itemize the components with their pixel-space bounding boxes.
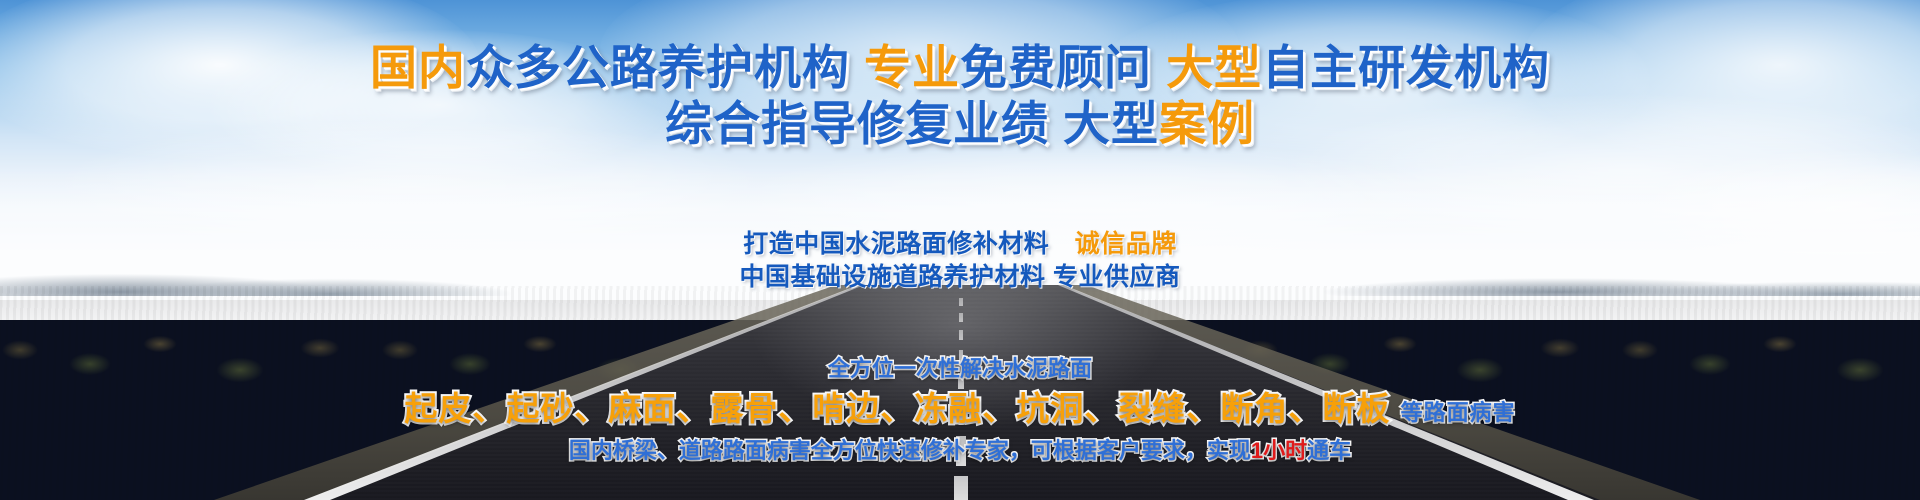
text-run-red: 1小时 xyxy=(1251,438,1307,463)
text-run-orange: 诚信品牌 xyxy=(1075,230,1177,258)
text-run-blue: 全方位一次性解决水泥路面 xyxy=(828,356,1092,381)
text-run-blue: 自主研发机构 xyxy=(1262,41,1550,94)
headline-line-1: 国内众多公路养护机构 专业免费顾问 大型自主研发机构 xyxy=(0,44,1920,91)
text-run-blue: 等路面病害 xyxy=(1401,400,1516,425)
text-run-blue xyxy=(850,41,864,94)
text-run-orange: 国内 xyxy=(370,41,466,94)
text-run-blue xyxy=(1049,230,1075,258)
text-run-blue: 大型 xyxy=(1063,97,1159,150)
subtitle-line-2: 中国基础设施道路养护材料 专业供应商 xyxy=(0,265,1920,290)
text-run-blue: 免费顾问 xyxy=(960,41,1152,94)
text-run-orange: 大型 xyxy=(1166,41,1262,94)
text-run-orange: 起皮、起砂、麻面、露骨、啃边、冻融、坑洞、裂缝、断角、断板 xyxy=(404,390,1390,427)
lower-line-2-defect-list: 起皮、起砂、麻面、露骨、啃边、冻融、坑洞、裂缝、断角、断板 等路面病害 xyxy=(0,392,1920,425)
lower-line-1: 全方位一次性解决水泥路面 xyxy=(0,358,1920,380)
banner-copy: 国内众多公路养护机构 专业免费顾问 大型自主研发机构 综合指导修复业绩 大型案例… xyxy=(0,0,1920,500)
lower-line-3-tagline: 国内桥梁、道路路面病害全方位快速修补专家，可根据客户要求，实现1小时通车 xyxy=(0,440,1920,462)
text-run-blue: 众多公路养护机构 xyxy=(466,41,850,94)
text-run-blue xyxy=(1152,41,1166,94)
text-run-blue: 通车 xyxy=(1307,438,1351,463)
promo-banner: 国内众多公路养护机构 专业免费顾问 大型自主研发机构 综合指导修复业绩 大型案例… xyxy=(0,0,1920,500)
text-run-blue xyxy=(1049,97,1063,150)
text-run-orange: 案例 xyxy=(1159,97,1255,150)
text-run-blue xyxy=(1390,390,1400,427)
text-run-blue: 国内桥梁、道路路面病害全方位快速修补专家，可根据客户要求，实现 xyxy=(569,438,1251,463)
text-run-blue: 打造中国水泥路面修补材料 xyxy=(743,230,1049,258)
text-run-blue: 综合指导修复业绩 xyxy=(665,97,1049,150)
subtitle-line-1: 打造中国水泥路面修补材料 诚信品牌 xyxy=(0,232,1920,257)
text-run-blue: 中国基础设施道路养护材料 专业供应商 xyxy=(740,263,1181,291)
headline-line-2: 综合指导修复业绩 大型案例 xyxy=(0,100,1920,147)
text-run-orange: 专业 xyxy=(864,41,960,94)
